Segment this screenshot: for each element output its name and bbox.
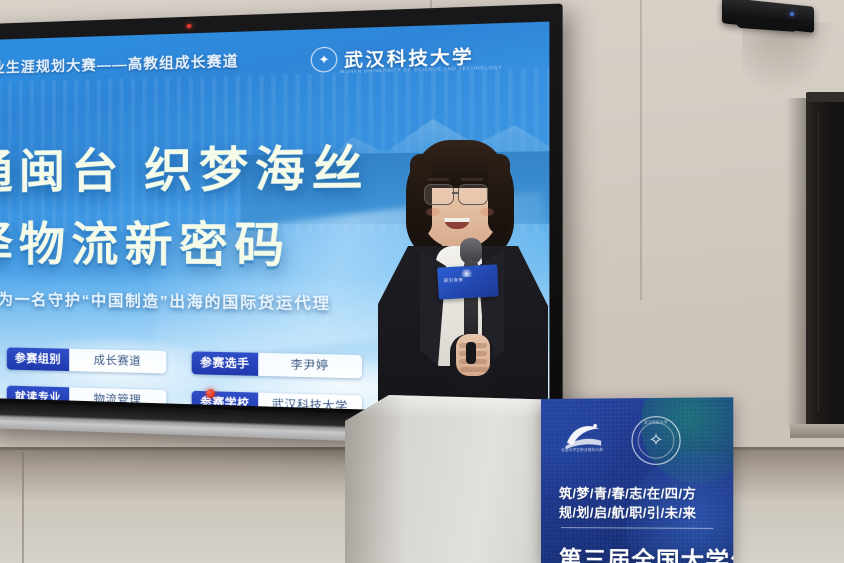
camera-led-icon — [790, 12, 794, 16]
hair-side-right — [488, 154, 510, 234]
microphone-flag: 职引未来 — [437, 264, 499, 299]
eyeglasses-bridge — [452, 192, 458, 194]
podium-event-sign: 全国大学生职业规划大赛 武汉科技大学 ✧ 筑/梦/青/春/志/在/四/方 规/划… — [541, 397, 733, 563]
microphone-flag-logo-icon — [459, 269, 473, 278]
sign-main-title: 第三届全国大学生 — [559, 540, 733, 563]
sign-slogan-line-2: 规/划/启/航/职/引/未/来 — [559, 502, 722, 522]
info-tag-value: 成长赛道 — [69, 349, 166, 374]
info-tag-key: 参赛选手 — [192, 351, 258, 375]
ceiling-device-shadow — [742, 22, 834, 92]
slide-title-line-2: 译物流新密码 — [0, 207, 291, 277]
cheek-right — [480, 208, 494, 216]
competition-logo-icon: 全国大学生职业规划大赛 — [557, 417, 609, 467]
university-seal-logo-icon: 武汉科技大学 ✧ — [632, 416, 681, 465]
info-tag: 参赛组别 成长赛道 — [7, 347, 167, 373]
cabinet-base — [790, 424, 844, 438]
speaker-person: 职引未来 — [372, 138, 552, 438]
info-tag-value: 李尹婷 — [258, 353, 362, 379]
eyebrow-left — [427, 178, 449, 181]
cabinet-shadow — [786, 98, 808, 428]
cabinet-door-panel — [818, 112, 844, 412]
seal-emblem-icon: ✧ — [638, 422, 675, 459]
microphone-handle-end — [466, 342, 476, 364]
podium-side-shading — [345, 395, 405, 563]
sign-logo-group: 全国大学生职业规划大赛 武汉科技大学 ✧ — [557, 416, 681, 467]
microphone-flag-text: 职引未来 — [444, 277, 464, 284]
competition-swoosh-icon — [561, 421, 605, 451]
display-status-led-icon — [206, 389, 215, 398]
competition-logo-caption: 全国大学生职业规划大赛 — [560, 448, 604, 453]
eyebrow-right — [461, 178, 483, 181]
eyeglasses-icon — [424, 184, 454, 205]
university-emblem-icon: ✦ — [311, 46, 338, 72]
info-tag-key: 参赛组别 — [7, 347, 69, 371]
sign-slogan-line-1: 筑/梦/青/春/志/在/四/方 — [559, 483, 722, 502]
finger — [460, 367, 488, 372]
cabinet-top-edge — [806, 92, 844, 102]
info-tag: 参赛选手 李尹婷 — [192, 351, 362, 378]
wall-panel-seam — [640, 0, 642, 300]
seal-top-text: 武汉科技大学 — [633, 420, 680, 425]
eyeglasses-icon — [458, 184, 488, 205]
wall-corner-line — [22, 452, 24, 563]
cheek-left — [426, 208, 440, 216]
screenshot-root: 业生涯规划大赛——高教组成长赛道 ✦ 武汉科技大学 WUHAN UNIVERSI… — [0, 0, 844, 563]
slide-title-line-1: 通闽台 织梦海丝 — [0, 130, 370, 202]
